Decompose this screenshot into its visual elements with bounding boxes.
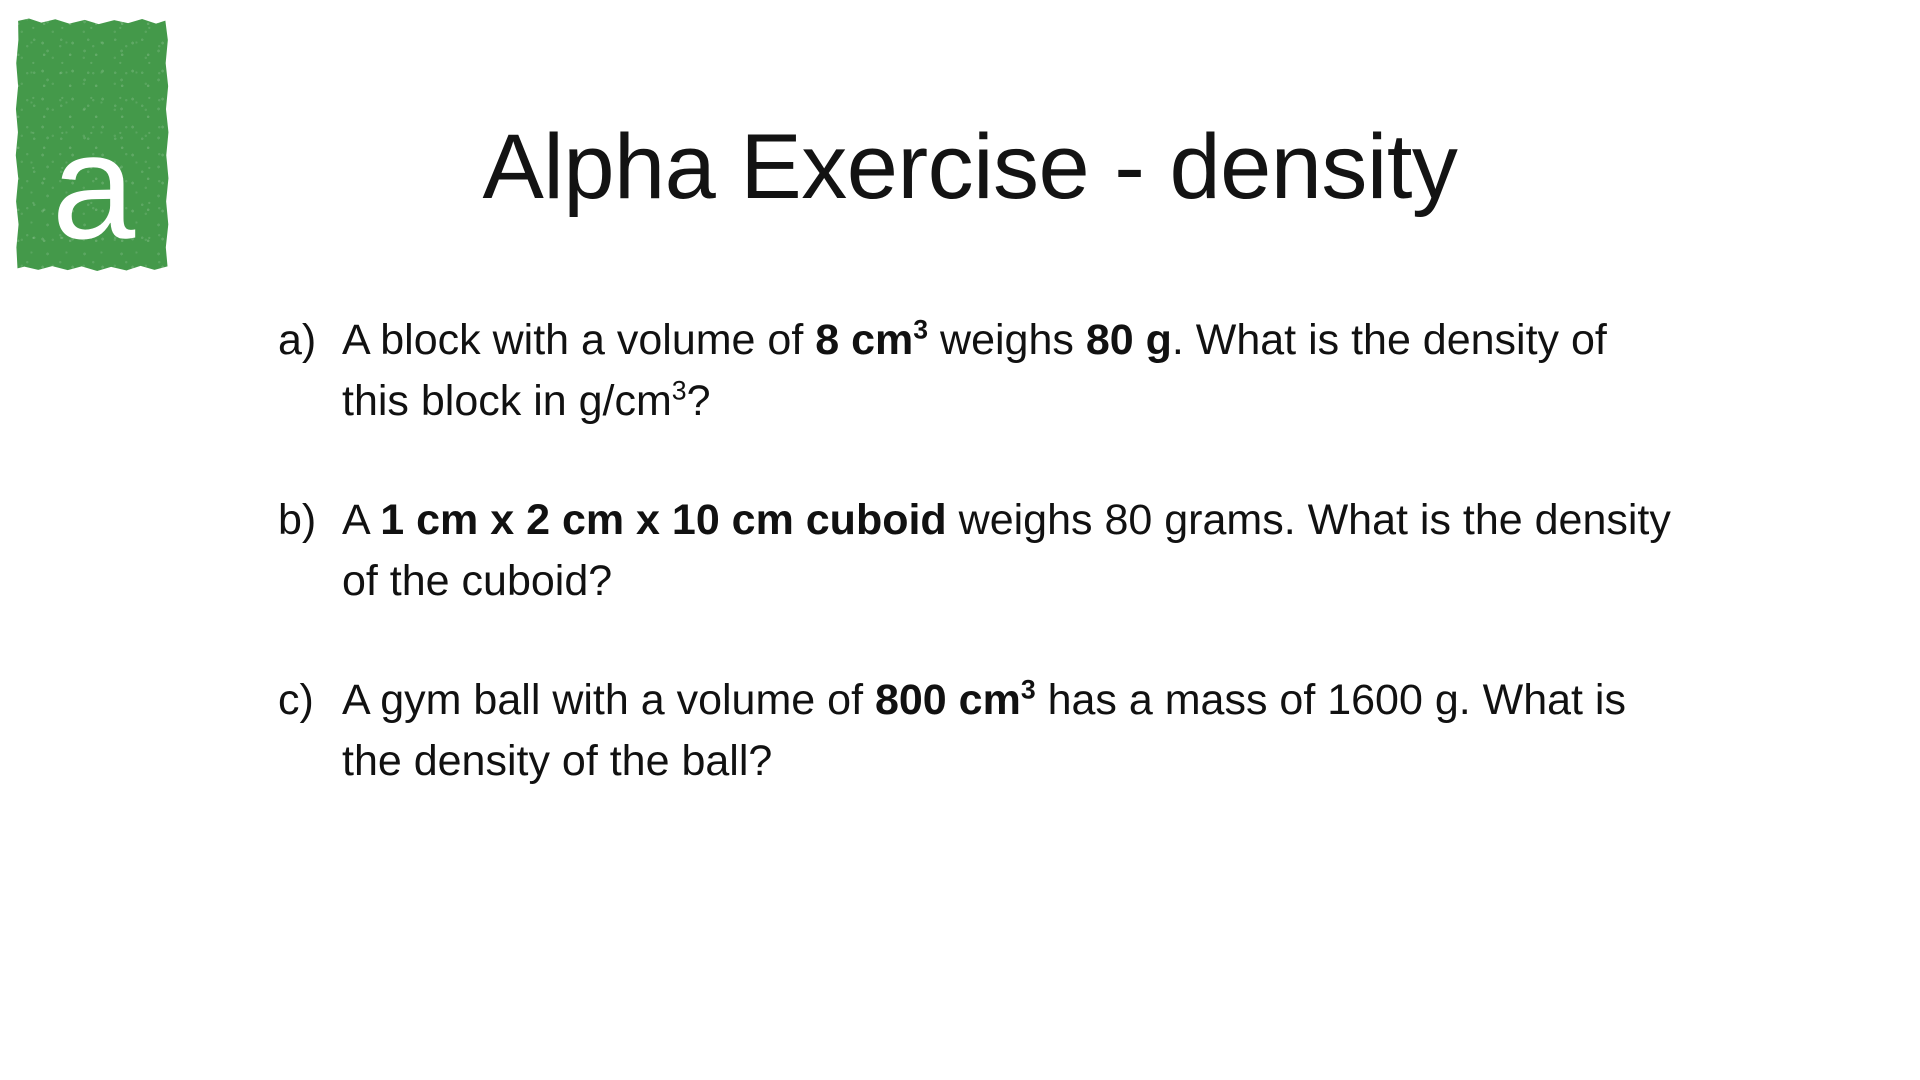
question-list: a)A block with a volume of 8 cm3 weighs … (238, 310, 1698, 792)
logo-letter: a (15, 128, 170, 245)
superscript: 3 (672, 376, 687, 406)
superscript: 3 (913, 315, 928, 345)
question-item: b)A 1 cm x 2 cm x 10 cm cuboid weighs 80… (278, 490, 1698, 612)
question-marker: b) (278, 490, 342, 551)
question-text: A block with a volume of 8 cm3 weighs 80… (342, 310, 1672, 432)
slide-canvas: a Alpha Exercise - density a)A block wit… (0, 0, 1920, 1080)
superscript: 3 (1021, 675, 1036, 705)
emphasis: 80 g (1086, 316, 1172, 364)
page-title: Alpha Exercise - density (200, 118, 1740, 217)
question-text: A gym ball with a volume of 800 cm3 has … (342, 670, 1672, 792)
question-text: A 1 cm x 2 cm x 10 cm cuboid weighs 80 g… (342, 490, 1672, 612)
emphasis: 8 cm (815, 316, 913, 364)
emphasis: 1 cm x 2 cm x 10 cm cuboid (380, 496, 946, 544)
emphasis: 3 (1021, 676, 1036, 724)
alpha-logo: a (15, 17, 170, 273)
emphasis: 800 cm (875, 676, 1021, 724)
question-item: c)A gym ball with a volume of 800 cm3 ha… (278, 670, 1698, 792)
question-item: a)A block with a volume of 8 cm3 weighs … (278, 310, 1698, 432)
emphasis: 3 (913, 316, 928, 364)
question-marker: a) (278, 310, 342, 371)
question-marker: c) (278, 670, 342, 731)
